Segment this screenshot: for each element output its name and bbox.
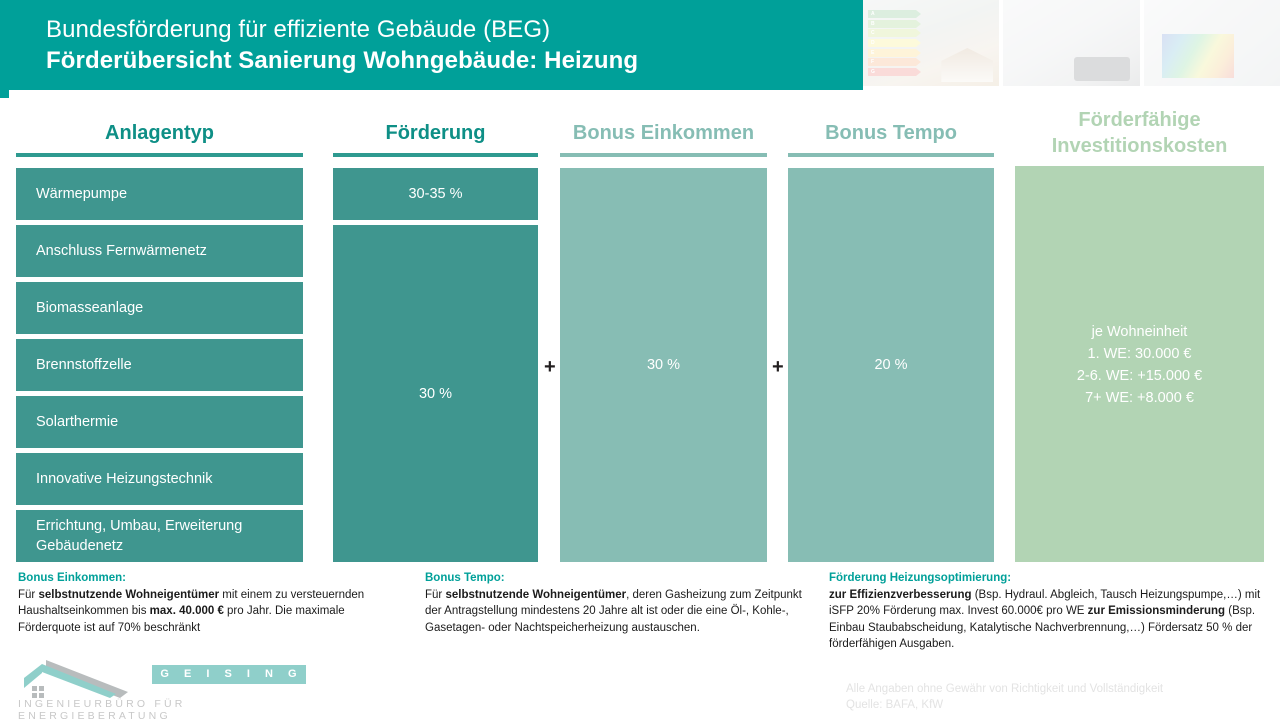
note-bonus-tempo-title: Bonus Tempo: [425, 570, 820, 587]
note-einkommen-bold-1: selbstnutzende Wohneigentümer [38, 589, 219, 601]
column-header-foerderung-label: Förderung [386, 122, 486, 144]
anlagentyp-row-5-label: Solarthermie [36, 412, 118, 432]
column-header-foerderung: Förderung [333, 120, 538, 157]
page-title: Förderübersicht Sanierung Wohngebäude: H… [46, 45, 863, 76]
column-header-bonus-tempo-label: Bonus Tempo [825, 122, 957, 144]
disclaimer: Alle Angaben ohne Gewähr von Richtigkeit… [846, 681, 1266, 713]
foerderung-top-value: 30-35 % [408, 184, 462, 204]
photo-overlay-2 [1003, 0, 1139, 86]
investitionskosten-line-2: 1. WE: 30.000 € [1088, 343, 1192, 365]
note-einkommen-bold-2: max. 40.000 € [150, 605, 224, 617]
investitionskosten-line-1: je Wohneinheit [1092, 321, 1188, 343]
anlagentyp-row-1-label: Wärmepumpe [36, 184, 127, 204]
plus-sign-1: + [544, 357, 556, 377]
column-header-anlagentyp-label: Anlagentyp [105, 122, 214, 144]
photo-thermal-image [1144, 0, 1280, 86]
note-einkommen-text-1: Für [18, 589, 38, 601]
plus-sign-2: + [772, 357, 784, 377]
note-bonus-einkommen-body: Für selbstnutzende Wohneigentümer mit ei… [18, 587, 410, 637]
foerderung-main-value: 30 % [419, 384, 452, 404]
anlagentyp-row-4[interactable]: Brennstoffzelle [16, 339, 303, 391]
column-header-bonus-tempo: Bonus Tempo [788, 120, 994, 157]
foerderung-main-block[interactable]: 30 % [333, 225, 538, 562]
anlagentyp-row-7-label: Errichtung, Umbau, Erweiterung Gebäudene… [36, 516, 303, 556]
column-header-investitionskosten-line2: Investitionskosten [1015, 133, 1264, 159]
anlagentyp-row-6[interactable]: Innovative Heizungstechnik [16, 453, 303, 505]
note-bonus-tempo-body: Für selbstnutzende Wohneigentümer, deren… [425, 587, 820, 637]
note-tempo-text-1: Für [425, 589, 445, 601]
bonus-einkommen-value: 30 % [647, 355, 680, 375]
note-bonus-einkommen-title: Bonus Einkommen: [18, 570, 410, 587]
anlagentyp-row-3-label: Biomasseanlage [36, 298, 143, 318]
column-rule-bonus-einkommen [560, 153, 767, 157]
note-heizungsoptimierung-title: Förderung Heizungsoptimierung: [829, 570, 1270, 587]
column-rule-foerderung [333, 153, 538, 157]
anlagentyp-row-7[interactable]: Errichtung, Umbau, Erweiterung Gebäudene… [16, 510, 303, 562]
logo-subtitle: INGENIEURBÜRO FÜR ENERGIEBERATUNG [18, 698, 306, 720]
bonus-einkommen-block[interactable]: 30 % [560, 168, 767, 562]
header-title-bar: Bundesförderung für effiziente Gebäude (… [0, 0, 863, 90]
note-bonus-einkommen: Bonus Einkommen: Für selbstnutzende Wohn… [18, 570, 410, 636]
header-photo-strip: A B C D E F G [863, 0, 1280, 86]
photo-planning-desk [1003, 0, 1139, 86]
column-rule-anlagentyp [16, 153, 303, 157]
anlagentyp-row-5[interactable]: Solarthermie [16, 396, 303, 448]
logo-wordmark: G E I S I N G E R [152, 665, 306, 684]
header-subtitle: Bundesförderung für effiziente Gebäude (… [46, 14, 863, 45]
column-header-bonus-einkommen-label: Bonus Einkommen [573, 122, 754, 144]
anlagentyp-row-2[interactable]: Anschluss Fernwärmenetz [16, 225, 303, 277]
company-logo[interactable]: G E I S I N G E R INGENIEURBÜRO FÜR ENER… [16, 658, 306, 716]
note-heiz-bold-1: zur Effizienzverbesserung [829, 589, 972, 601]
photo-overlay-1 [863, 0, 999, 86]
note-heizungsoptimierung-body: zur Effizienzverbesserung (Bsp. Hydraul.… [829, 587, 1270, 653]
photo-overlay-3 [1144, 0, 1280, 86]
disclaimer-line-1: Alle Angaben ohne Gewähr von Richtigkeit… [846, 681, 1266, 697]
bonus-tempo-block[interactable]: 20 % [788, 168, 994, 562]
note-heizungsoptimierung: Förderung Heizungsoptimierung: zur Effiz… [829, 570, 1270, 653]
column-header-investitionskosten-line1: Förderfähige [1015, 107, 1264, 133]
anlagentyp-row-3[interactable]: Biomasseanlage [16, 282, 303, 334]
anlagentyp-row-2-label: Anschluss Fernwärmenetz [36, 241, 207, 261]
column-header-investitionskosten: Förderfähige Investitionskosten [1015, 107, 1264, 170]
investitionskosten-line-3: 2-6. WE: +15.000 € [1077, 365, 1202, 387]
photo-model-house: A B C D E F G [863, 0, 999, 86]
disclaimer-line-2: Quelle: BAFA, KfW [846, 697, 1266, 713]
roof-mark-icon [16, 658, 134, 698]
note-bonus-tempo: Bonus Tempo: Für selbstnutzende Wohneige… [425, 570, 820, 636]
anlagentyp-row-4-label: Brennstoffzelle [36, 355, 132, 375]
slide-root: Bundesförderung für effiziente Gebäude (… [0, 0, 1280, 720]
foerderung-top-block[interactable]: 30-35 % [333, 168, 538, 220]
note-tempo-bold-1: selbstnutzende Wohneigentümer [445, 589, 626, 601]
anlagentyp-row-1[interactable]: Wärmepumpe [16, 168, 303, 220]
bonus-tempo-value: 20 % [874, 355, 907, 375]
anlagentyp-row-6-label: Innovative Heizungstechnik [36, 469, 213, 489]
column-rule-bonus-tempo [788, 153, 994, 157]
investitionskosten-block[interactable]: je Wohneinheit 1. WE: 30.000 € 2-6. WE: … [1015, 168, 1264, 562]
column-header-bonus-einkommen: Bonus Einkommen [560, 120, 767, 157]
note-heiz-bold-2: zur Emissionsminderung [1088, 605, 1225, 617]
investitionskosten-line-4: 7+ WE: +8.000 € [1085, 387, 1194, 409]
column-header-anlagentyp: Anlagentyp [16, 120, 303, 157]
